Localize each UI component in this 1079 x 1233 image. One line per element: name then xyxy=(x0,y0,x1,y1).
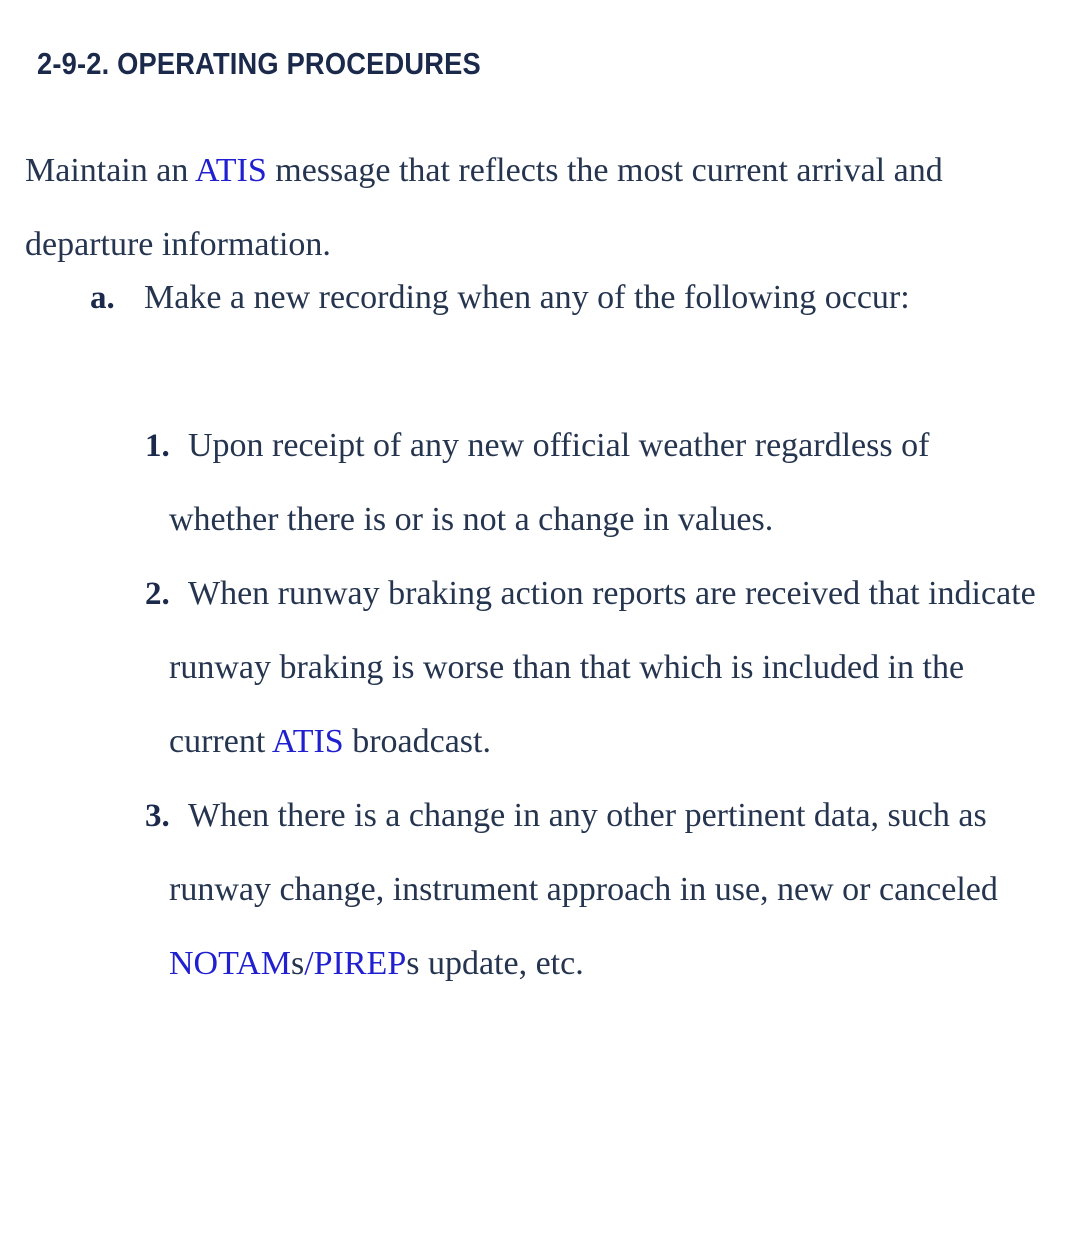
numbered-list: 1.Upon receipt of any new official weath… xyxy=(0,409,1079,1001)
atis-link[interactable]: ATIS xyxy=(272,723,344,760)
atis-link[interactable]: ATIS xyxy=(195,152,267,189)
list-item: 1.Upon receipt of any new official weath… xyxy=(0,409,1079,557)
slash-separator-link[interactable]: / xyxy=(304,945,313,982)
document-page: 2-9-2. OPERATING PROCEDURES Maintain an … xyxy=(0,0,1079,1233)
page-title: 2-9-2. OPERATING PROCEDURES xyxy=(37,44,481,84)
list-marker-2: 2. xyxy=(145,557,170,631)
list-item-text: Make a new recording when any of the fol… xyxy=(144,279,910,316)
alpha-list: a.Make a new recording when any of the f… xyxy=(0,261,1079,335)
list-marker-1: 1. xyxy=(145,409,170,483)
item3-text-before-link: When there is a change in any other pert… xyxy=(169,797,998,908)
item3-text-after-link: s update, etc. xyxy=(406,945,584,982)
list-item-text: When runway braking action reports are r… xyxy=(169,557,1043,779)
intro-text-before-link: Maintain an xyxy=(25,152,195,189)
list-item: 3.When there is a change in any other pe… xyxy=(0,779,1079,1001)
pirep-link[interactable]: PIREP xyxy=(314,945,407,982)
list-item: 2.When runway braking action reports are… xyxy=(0,557,1079,779)
list-item-text: When there is a change in any other pert… xyxy=(169,779,1043,1001)
list-marker-a: a. xyxy=(90,261,115,335)
list-item-text: Upon receipt of any new official weather… xyxy=(169,409,1043,557)
list-marker-3: 3. xyxy=(145,779,170,853)
item3-plural-s-1: s xyxy=(291,945,304,982)
intro-paragraph: Maintain an ATIS message that reflects t… xyxy=(25,134,1045,282)
item2-text-after-link: broadcast. xyxy=(344,723,491,760)
list-item: a.Make a new recording when any of the f… xyxy=(0,261,1079,335)
notam-link[interactable]: NOTAM xyxy=(169,945,291,982)
